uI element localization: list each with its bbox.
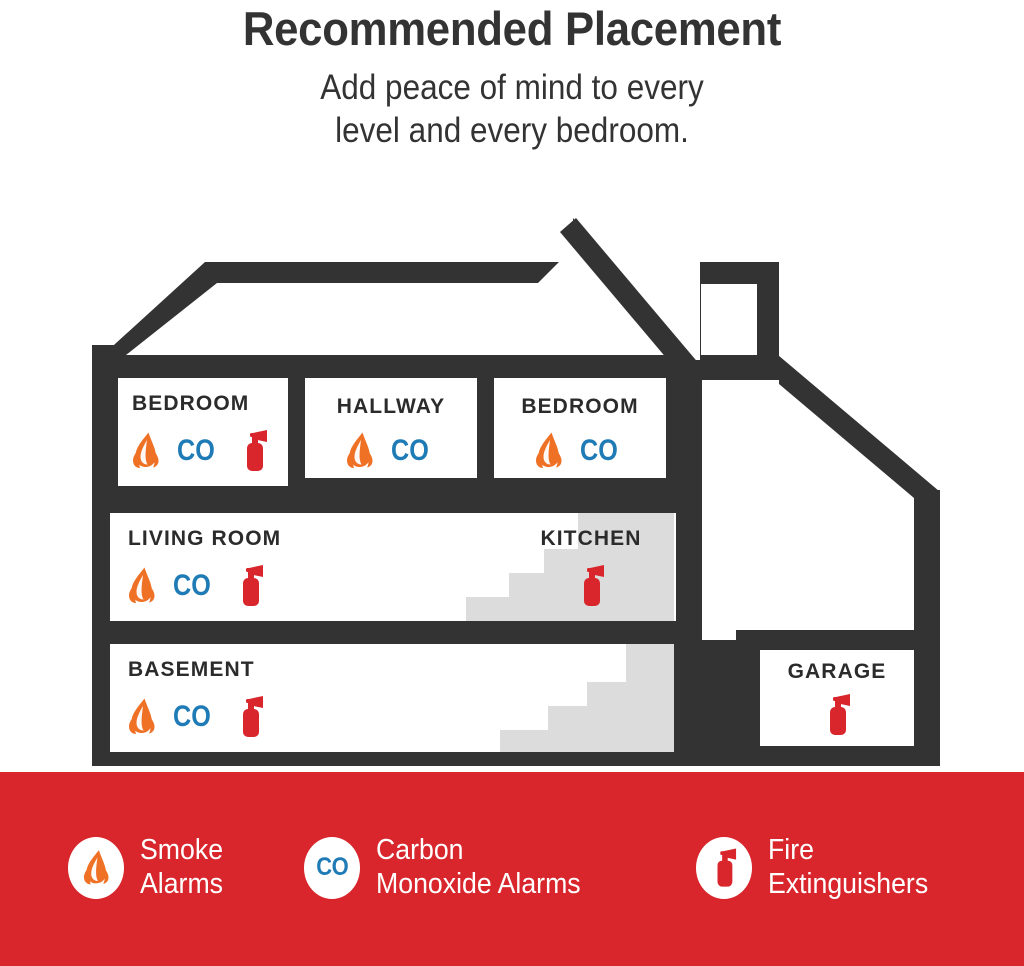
smoke-alarm-icon xyxy=(128,566,155,606)
legend-item-co-alarms[interactable]: CO Carbon Monoxide Alarms xyxy=(304,834,598,902)
smoke-alarm-icon xyxy=(128,697,155,737)
wall-garage-left xyxy=(736,630,760,765)
room-icon-row: CO xyxy=(128,696,264,738)
room-label: BEDROOM xyxy=(494,395,666,419)
fire-extinguisher-icon xyxy=(577,565,605,607)
room-label: KITCHEN xyxy=(506,527,676,551)
co-alarm-icon: CO xyxy=(177,436,215,466)
legend-item-smoke-alarms[interactable]: Smoke Alarms xyxy=(68,834,230,902)
co-alarm-icon: CO xyxy=(173,571,211,601)
wall-right xyxy=(914,490,940,765)
legend-label: Carbon Monoxide Alarms xyxy=(376,834,581,902)
legend-label-line-2: Alarms xyxy=(140,868,223,902)
room-bedroom-left[interactable]: BEDROOM CO xyxy=(118,378,288,486)
room-icon-row: CO xyxy=(132,430,268,472)
fire-extinguisher-badge xyxy=(696,837,752,899)
room-label: BASEMENT xyxy=(128,658,255,682)
legend-label-line-1: Carbon xyxy=(376,834,581,868)
smoke-alarm-icon xyxy=(535,431,562,471)
fire-extinguisher-icon xyxy=(823,694,851,736)
infographic-root: Recommended Placement Add peace of mind … xyxy=(0,0,1024,966)
smoke-alarm-icon xyxy=(346,431,373,471)
smoke-alarm-icon xyxy=(132,431,159,471)
smoke-alarm-badge xyxy=(68,837,124,899)
room-living-room[interactable]: LIVING ROOM CO xyxy=(110,513,398,621)
fire-extinguisher-icon xyxy=(236,565,264,607)
legend-label: Smoke Alarms xyxy=(140,834,223,902)
legend-label-line-1: Fire xyxy=(768,834,928,868)
room-label: LIVING ROOM xyxy=(128,527,281,551)
legend-items: Smoke Alarms CO Carbon Monoxide Alarms xyxy=(0,772,1024,966)
wall-wing-divider xyxy=(676,360,702,765)
room-kitchen[interactable]: KITCHEN xyxy=(506,513,676,621)
room-label: HALLWAY xyxy=(305,395,477,419)
room-basement[interactable]: BASEMENT CO xyxy=(110,644,674,752)
room-icon-row: CO xyxy=(305,431,477,471)
room-garage[interactable]: GARAGE xyxy=(760,650,914,746)
room-bedroom-right[interactable]: BEDROOM CO xyxy=(494,378,666,478)
staircase-icon xyxy=(500,644,674,752)
room-hallway[interactable]: HALLWAY CO xyxy=(305,378,477,478)
legend-label-line-1: Smoke xyxy=(140,834,223,868)
room-icon-row xyxy=(760,694,914,736)
right-wing-interior xyxy=(700,380,919,640)
co-alarm-badge: CO xyxy=(304,837,360,899)
room-icon-row: CO xyxy=(128,565,264,607)
co-alarm-icon: CO xyxy=(580,436,618,466)
fire-extinguisher-icon xyxy=(236,696,264,738)
wall-garage-top xyxy=(736,630,940,652)
legend-label-line-2: Extinguishers xyxy=(768,868,928,902)
legend-label: Fire Extinguishers xyxy=(768,834,928,902)
room-icon-row: CO xyxy=(494,431,666,471)
legend-item-fire-extinguishers[interactable]: Fire Extinguishers xyxy=(696,834,942,902)
smoke-alarm-icon xyxy=(83,848,109,888)
co-alarm-icon: CO xyxy=(316,853,348,882)
room-label: BEDROOM xyxy=(132,392,249,416)
room-icon-row xyxy=(506,565,676,607)
co-alarm-icon: CO xyxy=(173,702,211,732)
legend-band: Smoke Alarms CO Carbon Monoxide Alarms xyxy=(0,772,1024,966)
co-alarm-icon: CO xyxy=(391,436,429,466)
legend-label-line-2: Monoxide Alarms xyxy=(376,868,581,902)
fire-extinguisher-icon xyxy=(711,848,737,888)
chimney-interior xyxy=(701,284,757,355)
room-label: GARAGE xyxy=(760,660,914,684)
fire-extinguisher-icon xyxy=(240,430,268,472)
